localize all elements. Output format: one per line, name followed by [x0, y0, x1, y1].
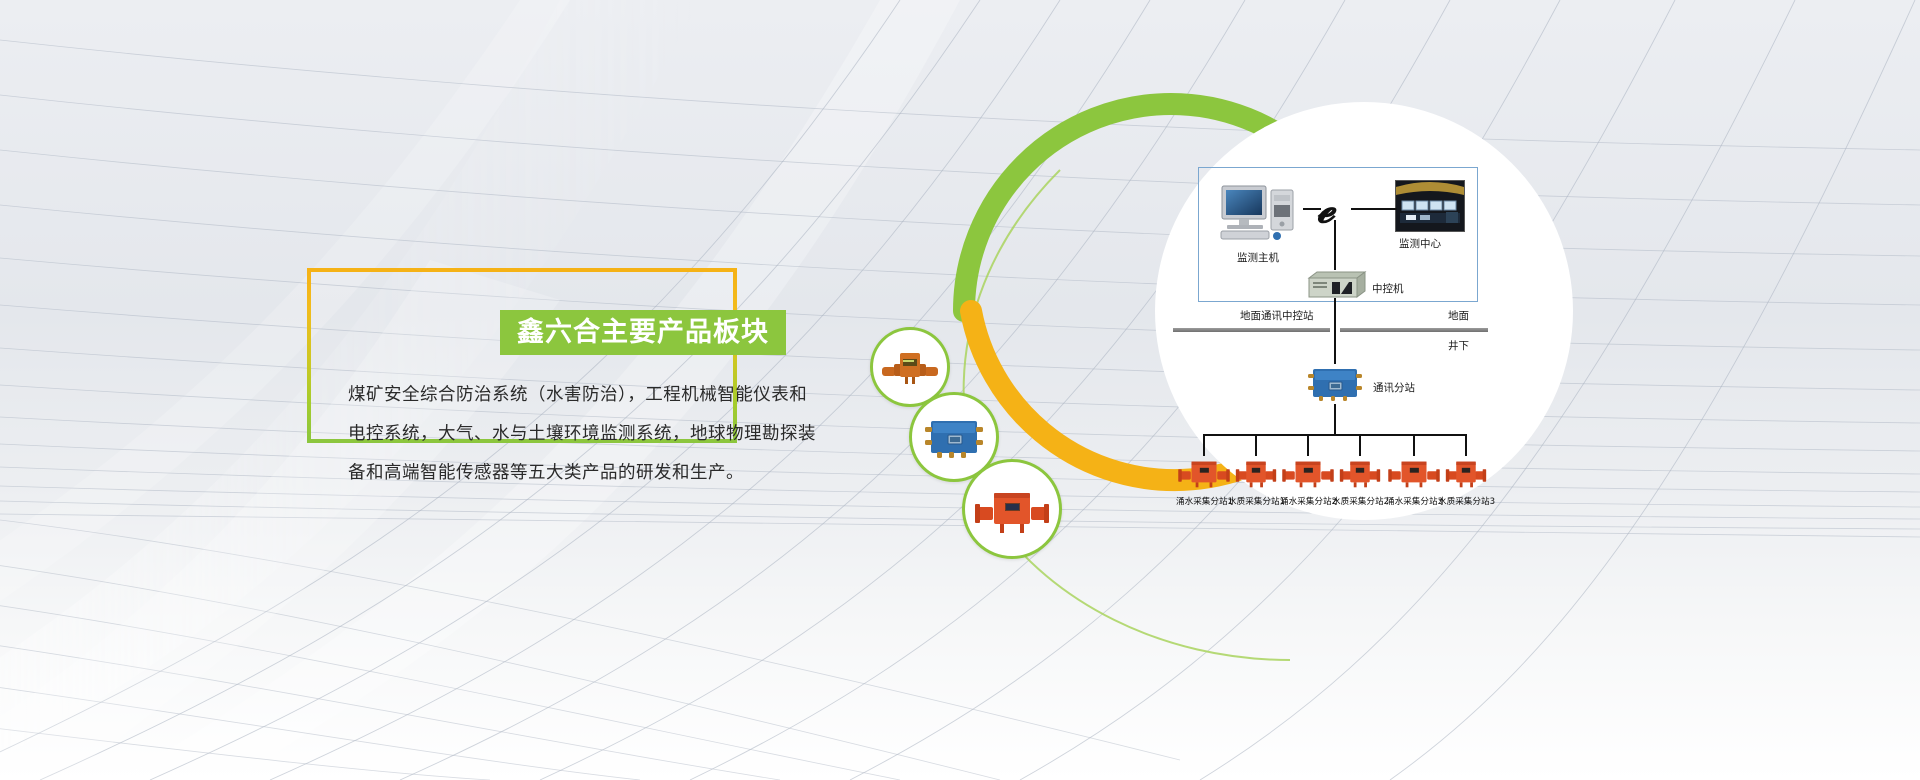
red-collector-icon: [1280, 456, 1336, 488]
red-collector-icon: [1176, 456, 1232, 488]
banner-stage: 鑫六合主要产品板块 煤矿安全综合防治系统（水害防治），工程机械智能仪表和 电控系…: [0, 0, 1920, 780]
collector-label: 水质采集分站3: [1438, 495, 1494, 507]
collector-node[interactable]: 水质采集分站2: [1332, 456, 1388, 507]
collector-label: 水质采集分站1: [1228, 495, 1284, 507]
blue-junction-box-icon: [923, 413, 985, 461]
description-line-3: 备和高端智能传感器等五大类产品的研发和生产。: [348, 454, 868, 493]
collector-label: 水质采集分站2: [1332, 495, 1388, 507]
label-surface: 地面: [1448, 308, 1469, 323]
internet-cloud-icon: 𝓮: [1317, 190, 1355, 228]
description-line-2: 电控系统，大气、水与土壤环境监测系统，地球物理勘探装: [348, 415, 868, 454]
section-title-banner: 鑫六合主要产品板块: [500, 310, 786, 355]
wire-substation-trunk: [1334, 404, 1336, 434]
monitoring-host-icon: [1219, 184, 1303, 246]
label-monitoring-center: 监测中心: [1399, 236, 1441, 251]
page-title: 鑫六合主要产品板块: [517, 319, 769, 346]
wire-internet-to-center: [1351, 208, 1397, 210]
central-controller-icon: [1305, 270, 1367, 300]
collector-node[interactable]: 水质采集分站3: [1438, 456, 1494, 507]
diagram-content: 监测主机 𝓮: [1165, 112, 1565, 512]
collector-node[interactable]: 水质采集分站1: [1228, 456, 1284, 507]
ground-divider-left: [1173, 328, 1330, 332]
collector-node[interactable]: 涌水采集分站3: [1386, 456, 1442, 507]
red-collector-icon: [1332, 456, 1388, 488]
label-communication-substation: 通讯分站: [1373, 380, 1415, 395]
description-text: 煤矿安全综合防治系统（水害防治），工程机械智能仪表和 电控系统，大气、水与土壤环…: [348, 376, 868, 493]
label-ground-station: 地面通讯中控站: [1240, 308, 1314, 323]
collector-node[interactable]: 涌水采集分站1: [1176, 456, 1232, 507]
wire-controller-to-substation: [1334, 298, 1336, 364]
system-diagram: 监测主机 𝓮: [900, 40, 1900, 740]
control-room-icon: [1396, 181, 1464, 231]
wire-host-to-internet: [1303, 208, 1321, 210]
communication-substation-icon: [1306, 364, 1364, 406]
collector-node[interactable]: 涌水采集分站2: [1280, 456, 1336, 507]
wire-internet-to-controller: [1334, 220, 1336, 270]
orange-sensor-icon: [881, 347, 939, 387]
wire-bus: [1203, 434, 1467, 436]
red-flow-station-icon: [975, 483, 1049, 535]
ground-divider-right: [1340, 328, 1488, 332]
bubble-red-flow-station[interactable]: [962, 459, 1062, 559]
red-collector-icon: [1386, 456, 1442, 488]
label-underground: 井下: [1448, 338, 1469, 353]
label-monitoring-host: 监测主机: [1237, 250, 1279, 265]
red-collector-icon: [1228, 456, 1284, 488]
monitoring-center-image: [1395, 180, 1465, 232]
collector-label: 涌水采集分站3: [1386, 495, 1442, 507]
collector-label: 涌水采集分站1: [1176, 495, 1232, 507]
label-central-controller: 中控机: [1372, 281, 1404, 296]
collector-node-list: 涌水采集分站1 水质采集分站1: [1165, 442, 1565, 512]
red-collector-icon: [1438, 456, 1494, 488]
description-line-1: 煤矿安全综合防治系统（水害防治），工程机械智能仪表和: [348, 376, 868, 415]
collector-label: 涌水采集分站2: [1280, 495, 1336, 507]
